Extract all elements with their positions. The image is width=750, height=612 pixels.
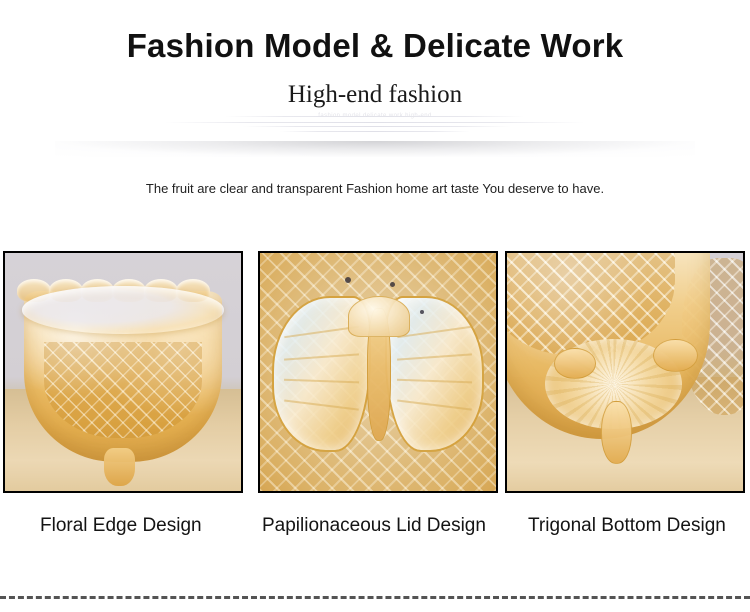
wing-vein bbox=[284, 379, 359, 384]
wing-vein bbox=[284, 353, 358, 360]
butterfly-handle bbox=[269, 296, 486, 448]
wing-vein bbox=[397, 379, 472, 384]
product-detail-page: Fashion Model & Delicate Work High-end f… bbox=[0, 0, 750, 612]
header-shadow-band bbox=[55, 141, 695, 157]
page-title: Fashion Model & Delicate Work bbox=[0, 26, 750, 66]
decorative-ornament: fashion model delicate work high-end bbox=[165, 113, 585, 139]
caption-butterfly-lid: Papilionaceous Lid Design bbox=[262, 513, 486, 539]
ornament-line-3 bbox=[243, 126, 511, 127]
page-subtitle: High-end fashion bbox=[0, 80, 750, 110]
wing-vein bbox=[397, 353, 471, 360]
page-description: The fruit are clear and transparent Fash… bbox=[0, 180, 750, 198]
caption-floral-edge: Floral Edge Design bbox=[40, 513, 202, 539]
glass-speck bbox=[390, 282, 395, 287]
feature-caption-row: Floral Edge Design Papilionaceous Lid De… bbox=[0, 513, 750, 547]
glass-leg bbox=[653, 339, 697, 372]
glass-leg bbox=[554, 348, 596, 379]
caption-trigonal-bottom: Trigonal Bottom Design bbox=[528, 513, 726, 539]
product-photo-butterfly-lid bbox=[260, 253, 496, 491]
feature-panel-butterfly-lid[interactable] bbox=[258, 251, 498, 493]
feature-panel-trigonal-bottom[interactable] bbox=[505, 251, 745, 493]
bowl-interior-rim bbox=[22, 286, 225, 334]
product-photo-floral-edge bbox=[5, 253, 241, 491]
header-section: Fashion Model & Delicate Work High-end f… bbox=[0, 0, 750, 232]
lid-knob bbox=[348, 296, 411, 338]
glass-diamond-texture bbox=[505, 251, 675, 355]
glass-diamond-texture bbox=[44, 342, 203, 438]
ornament-line-2 bbox=[165, 122, 585, 123]
bowl-foot bbox=[104, 448, 135, 486]
ornament-line-1 bbox=[225, 116, 525, 117]
wing-vein bbox=[398, 400, 472, 411]
ornament-faint-text: fashion model delicate work high-end bbox=[165, 113, 585, 119]
wing-vein bbox=[284, 400, 358, 411]
glass-leg bbox=[601, 401, 631, 465]
feature-panel-floral-edge[interactable] bbox=[3, 251, 243, 493]
ornament-line-4 bbox=[280, 131, 470, 132]
feature-image-row bbox=[0, 251, 750, 493]
section-divider bbox=[0, 596, 750, 599]
glass-speck bbox=[345, 277, 351, 283]
product-photo-trigonal-bottom bbox=[507, 253, 743, 491]
